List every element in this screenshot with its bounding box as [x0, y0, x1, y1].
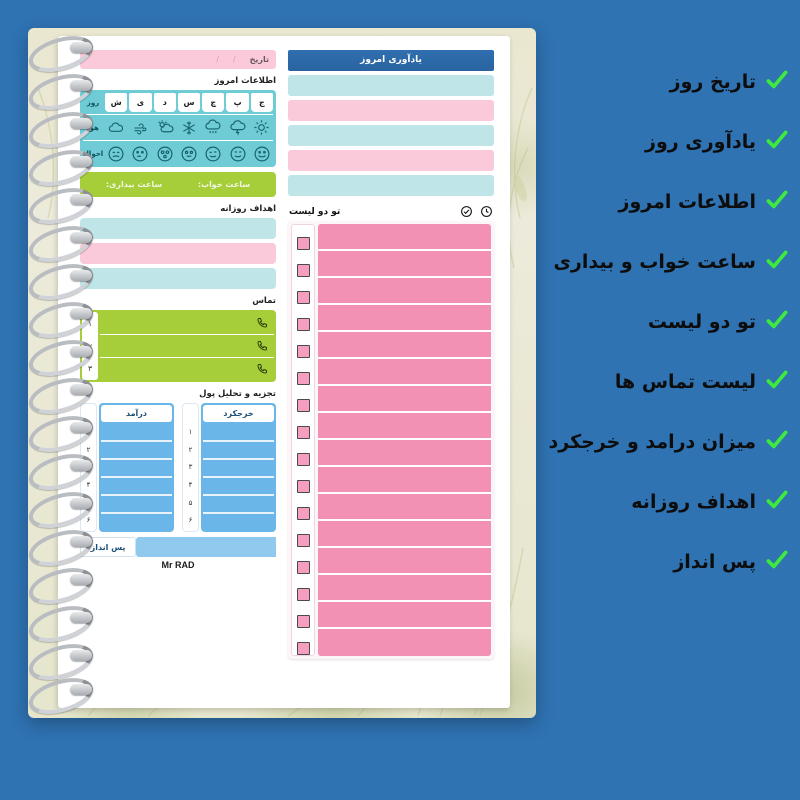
notebook: یادآوری امروز: [28, 28, 536, 718]
expense-row[interactable]: [203, 496, 274, 514]
todo-row[interactable]: [318, 602, 491, 629]
spiral-coil: [26, 226, 104, 256]
weather-row: هوا: [83, 117, 273, 141]
spiral-coil: [26, 644, 104, 674]
spiral-coil: [26, 112, 104, 142]
check-icon: [764, 427, 790, 457]
shocked-face-icon[interactable]: [154, 143, 176, 164]
happy-face-icon[interactable]: [251, 143, 273, 164]
date-field[interactable]: تاریخ / /: [80, 50, 276, 69]
phone-icon: [256, 317, 268, 329]
spiral-coil: [26, 530, 104, 560]
reminder-row[interactable]: [288, 150, 494, 171]
todo-row[interactable]: [318, 332, 491, 359]
expense-number: ۱: [183, 423, 198, 441]
spiral-coil: [26, 74, 104, 104]
todo-row[interactable]: [318, 251, 491, 278]
reminder-title: یادآوری امروز: [288, 50, 494, 71]
feature-item-goals: اهداف روزانه: [528, 472, 790, 532]
feature-label: یادآوری روز: [645, 131, 756, 153]
contact-row[interactable]: [100, 335, 274, 358]
money-table: خرجکرد ۱ ۲ ۳ ۴: [80, 403, 276, 532]
day-cells: ج پ چ س د ی ش: [105, 93, 273, 112]
confused-face-icon[interactable]: [129, 143, 151, 164]
todo-row[interactable]: [318, 305, 491, 332]
todo-title: تو دو لیست: [289, 207, 340, 217]
wink-face-icon[interactable]: [202, 143, 224, 164]
todo-checkbox[interactable]: [297, 480, 310, 493]
check-icon: [764, 367, 790, 397]
income-header: درآمد: [101, 405, 172, 422]
feature-item-today-info: اطلاعات امروز: [528, 172, 790, 232]
todo-header: تو دو لیست: [288, 205, 494, 221]
contact-row[interactable]: [100, 312, 274, 335]
date-separator: /: [233, 55, 236, 64]
todo-row[interactable]: [318, 494, 491, 521]
feature-item-sleep: ساعت خواب و بیداری: [528, 232, 790, 292]
day-cell[interactable]: د: [154, 93, 176, 112]
todo-checkbox[interactable]: [297, 453, 310, 466]
feature-list: تاریخ روز یادآوری روز اطلاعات امروز ساعت…: [528, 52, 790, 592]
spiral-coil: [26, 416, 104, 446]
check-icon: [764, 487, 790, 517]
spiral-coil: [26, 150, 104, 180]
goal-row[interactable]: [80, 243, 276, 264]
sleep-wake-field[interactable]: ساعت خواب: ساعت بیداری:: [80, 172, 276, 197]
check-icon: [764, 67, 790, 97]
reminder-row[interactable]: [288, 75, 494, 96]
todo-checkbox[interactable]: [297, 237, 310, 250]
income-row[interactable]: [101, 442, 172, 460]
savings-input[interactable]: [136, 537, 276, 557]
feature-item-money: میزان درامد و خرجکرد: [528, 412, 790, 472]
todo-row[interactable]: [318, 413, 491, 440]
wake-time-label: ساعت بیداری:: [106, 180, 162, 189]
feature-label: میزان درامد و خرجکرد: [549, 431, 757, 453]
check-icon: [764, 547, 790, 577]
surprised-face-icon[interactable]: [178, 143, 200, 164]
expense-row[interactable]: [203, 514, 274, 530]
income-row[interactable]: [101, 424, 172, 442]
feature-label: اطلاعات امروز: [619, 191, 757, 213]
spiral-coil: [26, 606, 104, 636]
todo-header-icons: [460, 205, 493, 218]
spiral-coil: [26, 492, 104, 522]
reminder-row[interactable]: [288, 100, 494, 121]
money-title: تجزیه و تحلیل پول: [80, 389, 276, 399]
feature-item-todo: تو دو لیست: [528, 292, 790, 352]
feature-label: اهداف روزانه: [631, 491, 756, 513]
check-icon: [764, 247, 790, 277]
weather-cells: [105, 117, 273, 138]
reminder-row[interactable]: [288, 125, 494, 146]
day-cell[interactable]: س: [178, 93, 200, 112]
todo-checkbox[interactable]: [297, 426, 310, 439]
contact-row[interactable]: [100, 358, 274, 380]
feature-item-reminder: یادآوری روز: [528, 112, 790, 172]
expense-number: ۲: [183, 441, 198, 459]
day-cell[interactable]: پ: [226, 93, 248, 112]
contact-rows: [100, 312, 274, 380]
feature-label: پس انداز: [673, 551, 756, 573]
todo-checkbox[interactable]: [297, 615, 310, 628]
feature-label: ساعت خواب و بیداری: [553, 251, 756, 273]
product-image: یادآوری امروز: [0, 0, 800, 800]
reminder-row[interactable]: [288, 175, 494, 196]
todo-row[interactable]: [318, 467, 491, 494]
todo-checkbox[interactable]: [297, 399, 310, 412]
spiral-coil: [26, 302, 104, 332]
todo-checkbox[interactable]: [297, 318, 310, 331]
spiral-coil: [26, 568, 104, 598]
spiral-binding: [26, 34, 104, 712]
date-label: تاریخ: [250, 55, 269, 64]
smile-face-icon[interactable]: [226, 143, 248, 164]
check-icon: [764, 127, 790, 157]
feature-label: تو دو لیست: [648, 311, 756, 333]
todo-row[interactable]: [318, 224, 491, 251]
todo-list: [288, 221, 494, 659]
todo-checkbox[interactable]: [297, 588, 310, 601]
todo-row[interactable]: [318, 629, 491, 654]
todo-row[interactable]: [318, 575, 491, 602]
check-icon: [764, 307, 790, 337]
day-cell[interactable]: ج: [251, 93, 273, 112]
todo-row[interactable]: [318, 521, 491, 548]
expense-numbers: ۱ ۲ ۳ ۴ ۵ ۶: [182, 403, 199, 532]
todo-checkbox[interactable]: [297, 291, 310, 304]
goal-row[interactable]: [80, 268, 276, 289]
planner-page: یادآوری امروز: [58, 36, 510, 708]
check-circle-icon: [460, 205, 473, 218]
left-column: یادآوری امروز: [288, 50, 494, 659]
todo-checkbox[interactable]: [297, 642, 310, 655]
expense-row[interactable]: [203, 442, 274, 460]
brand-label: Mr RAD: [80, 560, 276, 570]
today-info-title: اطلاعات امروز: [80, 76, 276, 86]
contacts-list: ۱ ۲ ۳: [80, 310, 276, 382]
wind-icon[interactable]: [129, 117, 151, 138]
date-separator: /: [216, 55, 219, 64]
partly-cloudy-icon[interactable]: [154, 117, 176, 138]
feature-label: لیست تماس ها: [615, 371, 756, 393]
snowflake-icon[interactable]: [178, 117, 200, 138]
mood-row: احوال: [83, 143, 273, 164]
expense-header: خرجکرد: [203, 405, 274, 422]
spiral-coil: [26, 36, 104, 66]
clock-icon: [480, 205, 493, 218]
feature-label: تاریخ روز: [670, 71, 756, 93]
expense-row[interactable]: [203, 424, 274, 442]
todo-checkbox-column: [291, 224, 315, 656]
todo-checkbox[interactable]: [297, 372, 310, 385]
todo-row[interactable]: [318, 386, 491, 413]
expense-number: ۴: [183, 476, 198, 494]
day-cell[interactable]: ی: [129, 93, 151, 112]
phone-icon: [256, 340, 268, 352]
spiral-coil: [26, 378, 104, 408]
cloud-lightning-icon[interactable]: [226, 117, 248, 138]
income-row[interactable]: [101, 460, 172, 478]
cloud-rain-icon[interactable]: [202, 117, 224, 138]
phone-icon: [256, 363, 268, 375]
todo-checkbox[interactable]: [297, 507, 310, 520]
todo-checkbox[interactable]: [297, 264, 310, 277]
right-column: تاریخ / / اطلاعات امروز ج پ چ س د ی: [80, 50, 276, 570]
todo-row[interactable]: [318, 278, 491, 305]
todo-checkbox[interactable]: [297, 534, 310, 547]
income-row[interactable]: [101, 496, 172, 514]
income-row[interactable]: [101, 478, 172, 496]
daily-goals-title: اهداف روزانه: [80, 204, 276, 214]
expense-number: ۵: [183, 494, 198, 512]
todo-checkbox[interactable]: [297, 561, 310, 574]
spiral-coil: [26, 454, 104, 484]
spiral-coil: [26, 264, 104, 294]
spiral-coil: [26, 340, 104, 370]
spiral-coil: [26, 678, 104, 708]
expense-body: خرجکرد: [201, 403, 276, 532]
contacts-title: تماس: [80, 296, 276, 306]
day-cell[interactable]: ش: [105, 93, 127, 112]
expense-number: ۶: [183, 511, 198, 529]
todo-row[interactable]: [318, 359, 491, 386]
today-info-grid: ج پ چ س د ی ش روز: [80, 90, 276, 167]
goal-row[interactable]: [80, 218, 276, 239]
check-icon: [764, 187, 790, 217]
savings-field[interactable]: پس انداز: [80, 537, 276, 557]
feature-item-date: تاریخ روز: [528, 52, 790, 112]
todo-checkbox[interactable]: [297, 345, 310, 358]
sun-icon[interactable]: [251, 117, 273, 138]
sleep-time-label: ساعت خواب:: [198, 180, 250, 189]
todo-row[interactable]: [318, 440, 491, 467]
mood-cells: [105, 143, 273, 164]
todo-row[interactable]: [318, 548, 491, 575]
income-body: درآمد: [99, 403, 174, 532]
expense-row[interactable]: [203, 460, 274, 478]
spiral-coil: [26, 188, 104, 218]
expense-column: خرجکرد ۱ ۲ ۳ ۴: [182, 403, 276, 532]
income-row[interactable]: [101, 514, 172, 530]
expense-row[interactable]: [203, 478, 274, 496]
todo-lines: [318, 224, 491, 656]
cloud-icon[interactable]: [105, 117, 127, 138]
sad-face-icon[interactable]: [105, 143, 127, 164]
day-row: ج پ چ س د ی ش روز: [83, 93, 273, 115]
feature-item-savings: پس انداز: [528, 532, 790, 592]
feature-item-contacts: لیست تماس ها: [528, 352, 790, 412]
day-cell[interactable]: چ: [202, 93, 224, 112]
expense-number: ۳: [183, 458, 198, 476]
